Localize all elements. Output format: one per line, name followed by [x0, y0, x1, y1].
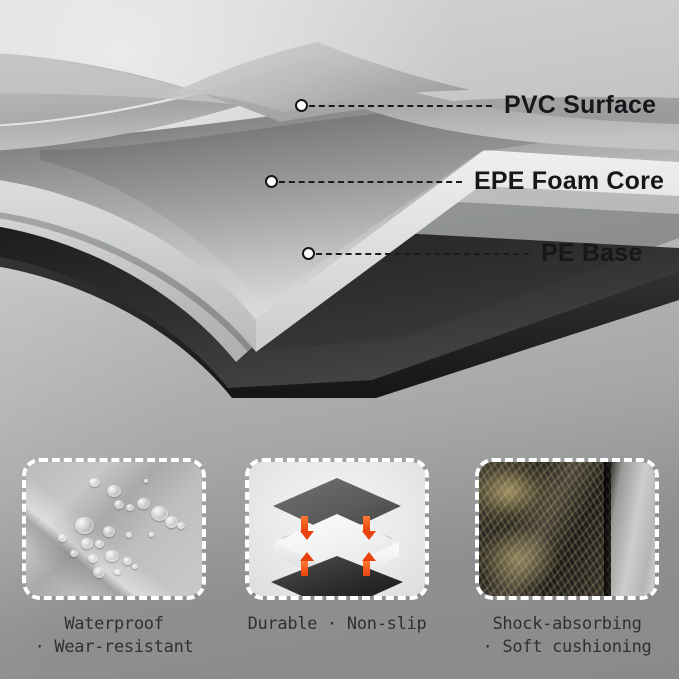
feature-panels: Waterproof · Wear-resistant — [0, 440, 679, 679]
feature-caption: Shock-absorbing · Soft cushioning — [475, 613, 659, 659]
leader-line — [316, 253, 529, 255]
pe-crumpled-area — [479, 462, 613, 596]
callout-label-epe: EPE Foam Core — [474, 169, 664, 194]
pe-sheet-photo-icon — [479, 462, 655, 596]
callout-epe-foam-core: EPE Foam Core — [265, 169, 664, 194]
callout-dot-icon — [295, 99, 308, 112]
leader-line — [279, 181, 462, 183]
pe-light-strip — [611, 462, 655, 596]
exploded-layers-icon — [249, 462, 425, 596]
arrow-down-left-icon — [300, 516, 309, 540]
feature-image-frame — [475, 458, 659, 600]
arrow-up-left-icon — [300, 552, 309, 576]
feature-waterproof: Waterproof · Wear-resistant — [22, 458, 206, 659]
waterproof-fabric-icon — [26, 462, 202, 596]
feature-durable: Durable · Non-slip — [245, 458, 429, 636]
layer-diagram — [0, 0, 679, 430]
feature-image-frame — [245, 458, 429, 600]
feature-caption: Waterproof · Wear-resistant — [22, 613, 206, 659]
feature-caption: Durable · Non-slip — [245, 613, 429, 636]
feature-image-frame — [22, 458, 206, 600]
infographic-root: PVC Surface EPE Foam Core PE Base — [0, 0, 679, 679]
callout-pe-base: PE Base — [302, 241, 642, 266]
arrow-up-right-icon — [362, 552, 371, 576]
callout-dot-icon — [265, 175, 278, 188]
callout-label-pe: PE Base — [541, 241, 642, 266]
callout-label-pvc: PVC Surface — [504, 93, 656, 118]
leader-line — [309, 105, 492, 107]
callout-pvc-surface: PVC Surface — [295, 93, 656, 118]
arrow-down-right-icon — [362, 516, 371, 540]
callout-dot-icon — [302, 247, 315, 260]
feature-shock-absorbing: Shock-absorbing · Soft cushioning — [475, 458, 659, 659]
